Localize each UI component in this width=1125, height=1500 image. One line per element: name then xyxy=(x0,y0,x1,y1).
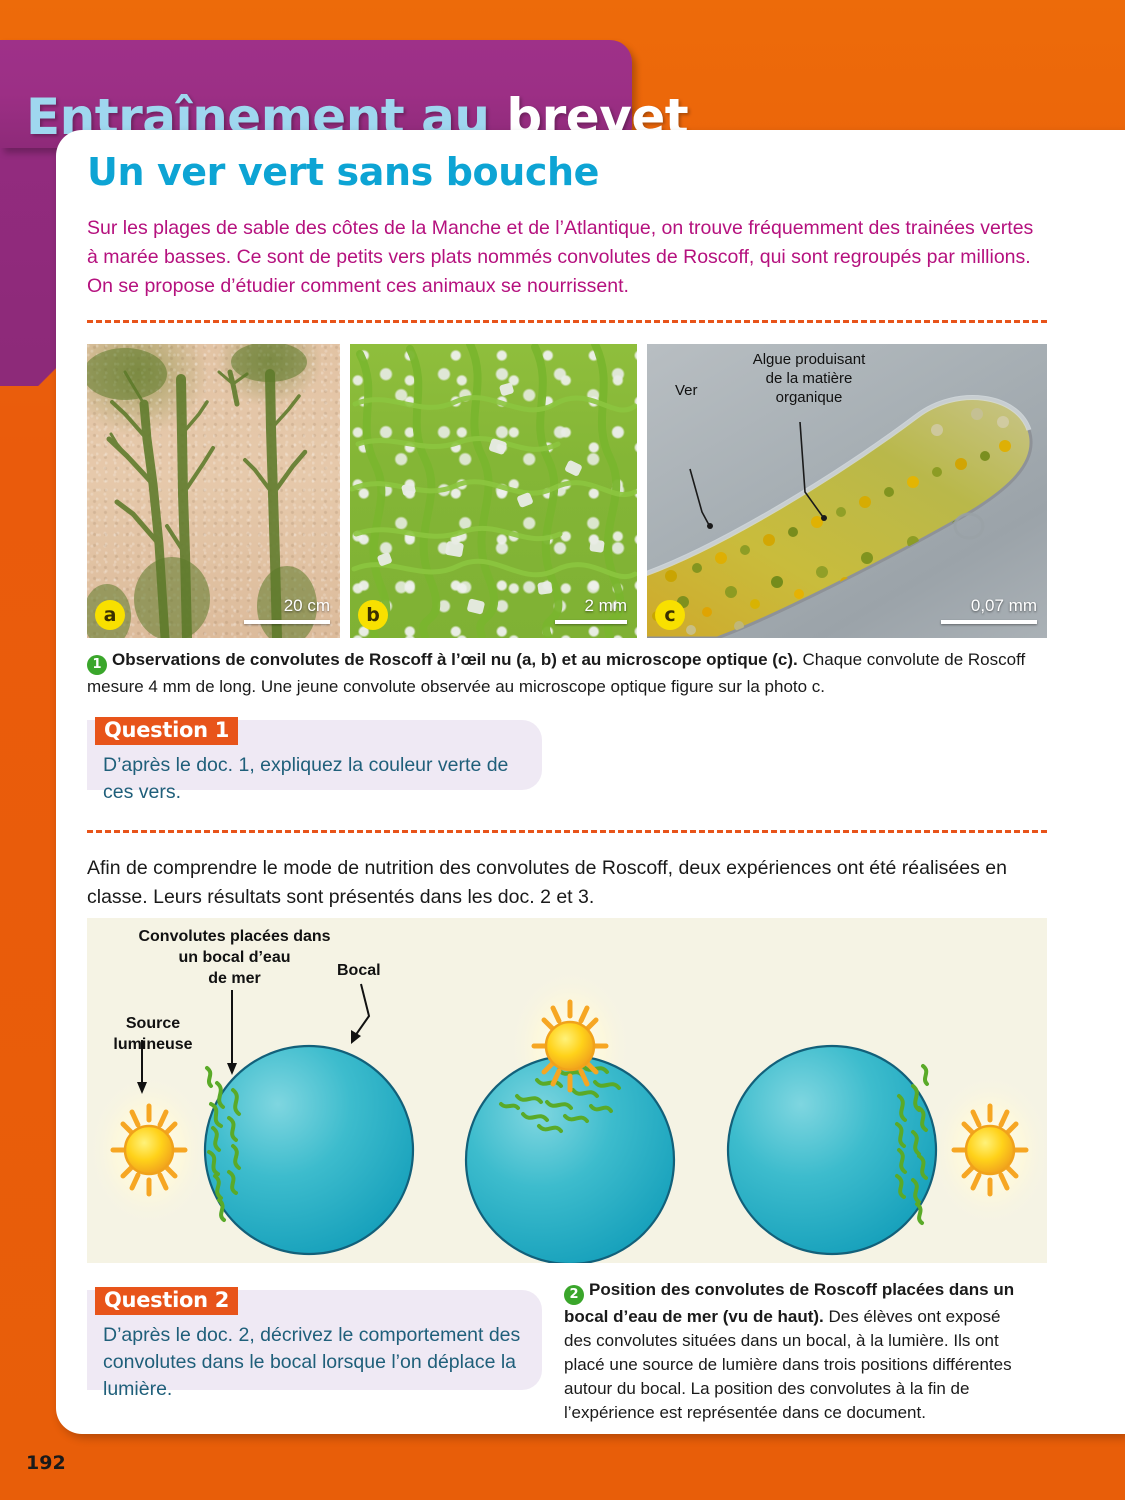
doc1-number: 1 xyxy=(87,655,107,675)
doc2-caption: 2Position des convolutes de Roscoff plac… xyxy=(564,1278,1016,1425)
photo-c-badge: c xyxy=(655,600,685,630)
content-card: Un ver vert sans bouche Sur les plages d… xyxy=(56,130,1125,1434)
beach-streaks-graphic xyxy=(87,344,340,638)
photo-a-badge: a xyxy=(95,600,125,630)
doc1-caption-title: Observations de convolutes de Roscoff à … xyxy=(112,650,798,669)
photo-c-scale: 0,07 mm xyxy=(941,596,1037,624)
photo-a-scale: 20 cm xyxy=(244,596,330,624)
mid-paragraph: Afin de comprendre le mode de nutrition … xyxy=(87,854,1047,912)
question-2-text: D’après le doc. 2, décrivez le comportem… xyxy=(103,1322,528,1403)
photo-b-badge: b xyxy=(358,600,388,630)
question-2-box: Question 2 D’après le doc. 2, décrivez l… xyxy=(87,1290,542,1390)
photo-strip: a 20 cm xyxy=(87,344,1047,638)
doc2-number: 2 xyxy=(564,1285,584,1305)
intro-paragraph: Sur les plages de sable des côtes de la … xyxy=(87,214,1047,301)
photo-a-beach: a 20 cm xyxy=(87,344,340,638)
experiment-diagram: Source lumineuse Convolutes placées dans… xyxy=(87,918,1047,1263)
diagram-label-convolutes: Convolutes placées dans un bocal d’eau d… xyxy=(127,926,342,989)
page-number: 192 xyxy=(26,1452,66,1474)
photo-c-label-algae: Algue produisant de la matière organique xyxy=(729,350,889,407)
photo-b-worms: b 2 mm xyxy=(350,344,637,638)
diagram-label-source: Source lumineuse xyxy=(103,1013,203,1055)
divider-middle xyxy=(87,830,1047,833)
question-1-tag: Question 1 xyxy=(95,717,238,745)
photo-c-microscope: Ver Algue produisant de la matière organ… xyxy=(647,344,1047,638)
worm-mat-graphic xyxy=(350,344,637,638)
question-1-text: D’après le doc. 1, expliquez la couleur … xyxy=(103,752,528,806)
divider-top xyxy=(87,320,1047,323)
question-1-box: Question 1 D’après le doc. 1, expliquez … xyxy=(87,720,542,790)
photo-c-label-worm: Ver xyxy=(675,382,698,399)
page-title: Un ver vert sans bouche xyxy=(87,150,599,194)
doc1-caption: 1Observations de convolutes de Roscoff à… xyxy=(87,648,1047,699)
diagram-label-bocal: Bocal xyxy=(337,962,381,980)
question-2-tag: Question 2 xyxy=(95,1287,238,1315)
photo-b-scale: 2 mm xyxy=(555,596,627,624)
